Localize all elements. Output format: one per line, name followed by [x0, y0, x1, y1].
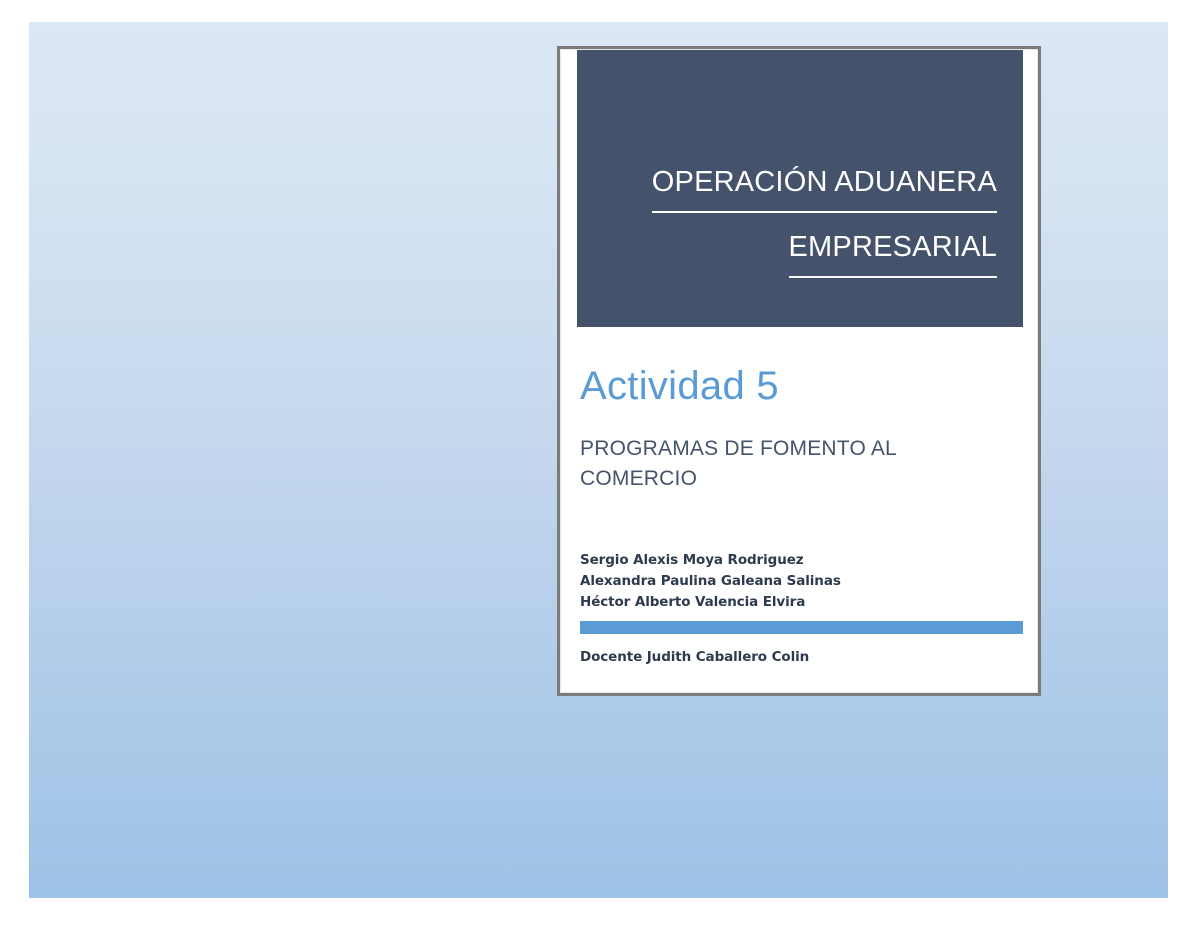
accent-divider-bar [580, 621, 1023, 634]
document-title-line-1: OPERACIÓN ADUANERA [603, 158, 997, 213]
document-title-line-2-text: EMPRESARIAL [789, 223, 998, 278]
document-title-line-1-text: OPERACIÓN ADUANERA [652, 158, 997, 213]
title-banner: OPERACIÓN ADUANERA EMPRESARIAL [577, 50, 1023, 327]
authors-list: Sergio Alexis Moya Rodriguez Alexandra P… [580, 550, 1000, 613]
document-viewer-canvas: OPERACIÓN ADUANERA EMPRESARIAL Actividad… [29, 22, 1168, 898]
activity-subheading: PROGRAMAS DE FOMENTO AL COMERCIO [580, 434, 910, 494]
author-name: Alexandra Paulina Galeana Salinas [580, 571, 1000, 592]
cover-body: Actividad 5 PROGRAMAS DE FOMENTO AL COME… [577, 338, 1019, 692]
document-page-inner: OPERACIÓN ADUANERA EMPRESARIAL Actividad… [560, 49, 1038, 693]
document-title: OPERACIÓN ADUANERA EMPRESARIAL [603, 158, 997, 278]
document-title-line-2: EMPRESARIAL [603, 223, 997, 278]
author-name: Héctor Alberto Valencia Elvira [580, 592, 1000, 613]
activity-heading: Actividad 5 [580, 366, 779, 406]
author-name: Sergio Alexis Moya Rodriguez [580, 550, 1000, 571]
document-page: OPERACIÓN ADUANERA EMPRESARIAL Actividad… [557, 46, 1041, 696]
instructor-name: Docente Judith Caballero Colin [580, 649, 809, 665]
